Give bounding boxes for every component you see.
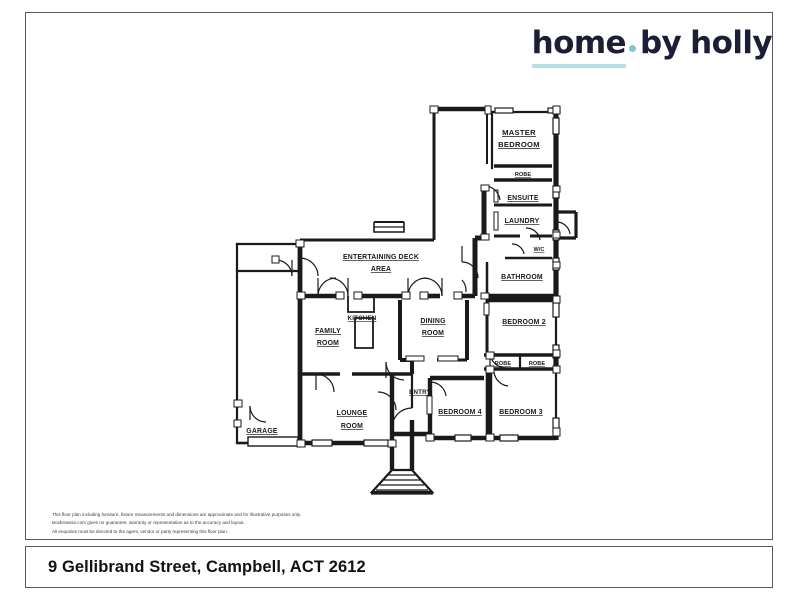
- brand-word-home: home: [532, 28, 626, 61]
- brand-logo: home by holly: [532, 28, 772, 80]
- brand-word-by: by: [640, 28, 681, 59]
- disclaimer-line-1: This floor plan including furniture, fix…: [52, 511, 472, 519]
- floor-plan-page: home by holly: [0, 0, 800, 600]
- property-address: 9 Gellibrand Street, Campbell, ACT 2612: [48, 558, 366, 577]
- address-bar: 9 Gellibrand Street, Campbell, ACT 2612: [25, 546, 773, 588]
- disclaimer-line-2: Boxbrownie.com gives no guarantee, warra…: [52, 519, 472, 527]
- disclaimer-text: This floor plan including furniture, fix…: [52, 511, 472, 536]
- brand-word-holly: holly: [690, 28, 772, 59]
- brand-dot-icon: [629, 45, 636, 52]
- disclaimer-line-3: All enquiries must be directed to the ag…: [52, 528, 472, 536]
- floor-plan-card: [25, 12, 773, 540]
